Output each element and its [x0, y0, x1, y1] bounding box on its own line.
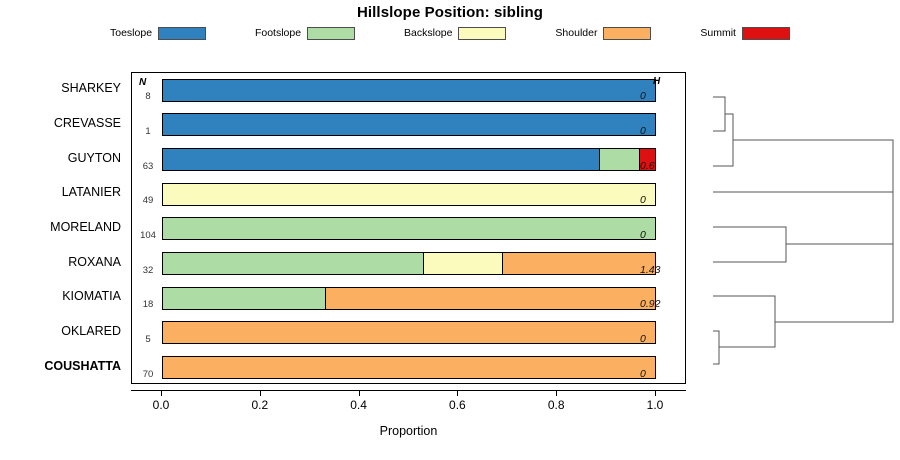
category-label-column: SHARKEYCREVASSEGUYTONLATANIERMORELANDROX… [0, 72, 127, 384]
n-value: 49 [135, 195, 161, 206]
bar-segment-footslope[interactable] [163, 218, 655, 239]
n-value: 8 [135, 91, 161, 102]
category-label-latanier: LATANIER [62, 185, 121, 199]
bar-segment-footslope[interactable] [163, 288, 325, 309]
bar-segment-backslope[interactable] [163, 184, 655, 205]
h-column-header: H [653, 76, 660, 87]
legend-label: Shoulder [555, 27, 597, 39]
legend-swatch [742, 27, 790, 40]
x-tick [556, 390, 557, 396]
x-tick-label: 1.0 [647, 398, 664, 412]
n-value: 5 [135, 334, 161, 345]
entropy-column: H000.6001.430.9200 [640, 72, 686, 384]
category-label-roxana: ROXANA [68, 255, 121, 269]
chart-row: 70 [132, 350, 685, 385]
bar-segment-shoulder[interactable] [163, 322, 655, 343]
x-tick [457, 390, 458, 396]
x-axis-line [131, 390, 686, 391]
category-label-guyton: GUYTON [68, 151, 121, 165]
legend-item-footslope: Footslope [255, 27, 355, 40]
chart-title: Hillslope Position: sibling [0, 4, 900, 21]
legend-swatch [603, 27, 651, 40]
category-label-coushatta: COUSHATTA [44, 359, 121, 373]
h-value: 0.6 [640, 160, 684, 172]
stacked-bar[interactable] [162, 356, 656, 379]
dendrogram-svg [686, 72, 900, 384]
legend-item-shoulder: Shoulder [555, 27, 651, 40]
stacked-bar[interactable] [162, 252, 656, 275]
x-tick [260, 390, 261, 396]
legend-item-toeslope: Toeslope [110, 27, 206, 40]
x-axis-title: Proportion [131, 424, 686, 438]
bar-segment-toeslope[interactable] [163, 114, 655, 135]
stacked-bar[interactable] [162, 287, 656, 310]
category-label-kiomatia: KIOMATIA [62, 289, 121, 303]
chart-row: 49 [132, 177, 685, 212]
chart-legend: ToeslopeFootslopeBackslopeShoulderSummit [0, 24, 900, 42]
dendrogram [686, 72, 900, 384]
stacked-bar[interactable] [162, 79, 656, 102]
x-tick-label: 0.4 [350, 398, 367, 412]
h-value: 0 [640, 125, 684, 137]
n-value: 104 [135, 230, 161, 241]
stacked-bar[interactable] [162, 148, 656, 171]
legend-swatch [158, 27, 206, 40]
chart-row: 18 [132, 281, 685, 316]
dendro-link-uppercluster [713, 140, 893, 192]
x-tick-label: 0.0 [153, 398, 170, 412]
legend-label: Summit [700, 27, 736, 39]
legend-swatch [458, 27, 506, 40]
chart-row: 8 [132, 73, 685, 108]
h-value: 0 [640, 194, 684, 206]
chart-row: 63 [132, 142, 685, 177]
stacked-bar[interactable] [162, 183, 656, 206]
chart-row: 32 [132, 246, 685, 281]
legend-item-summit: Summit [700, 27, 790, 40]
x-tick-label: 0.2 [251, 398, 268, 412]
category-label-oklared: OKLARED [61, 324, 121, 338]
category-label-sharkey: SHARKEY [61, 81, 121, 95]
chart-row: 1 [132, 108, 685, 143]
dendro-link-oklared-coushatta [713, 331, 719, 364]
category-label-moreland: MORELAND [50, 220, 121, 234]
stacked-bar[interactable] [162, 217, 656, 240]
legend-label: Backslope [404, 27, 452, 39]
dendro-link-lowercluster [775, 244, 893, 322]
x-tick [655, 390, 656, 396]
bar-segment-shoulder[interactable] [163, 357, 655, 378]
n-value: 32 [135, 265, 161, 276]
x-tick [359, 390, 360, 396]
n-value: 63 [135, 161, 161, 172]
bar-segment-backslope[interactable] [423, 253, 502, 274]
legend-item-backslope: Backslope [404, 27, 506, 40]
bar-segment-footslope[interactable] [599, 149, 639, 170]
x-tick-label: 0.6 [449, 398, 466, 412]
x-axis: 0.00.20.40.60.81.0 [131, 390, 686, 404]
legend-swatch [307, 27, 355, 40]
chart-canvas: Hillslope Position: sibling ToeslopeFoot… [0, 0, 900, 460]
dendro-link-kiomatia-oklaredcoushatta [713, 296, 775, 347]
legend-label: Footslope [255, 27, 301, 39]
n-value: 70 [135, 369, 161, 380]
bar-segment-shoulder[interactable] [502, 253, 655, 274]
x-tick-label: 0.8 [548, 398, 565, 412]
plot-panel: N8163491043218570 [131, 72, 686, 384]
stacked-bar[interactable] [162, 321, 656, 344]
n-value: 18 [135, 299, 161, 310]
bar-segment-toeslope[interactable] [163, 149, 599, 170]
h-value: 1.43 [640, 264, 684, 276]
chart-row: 5 [132, 316, 685, 351]
dendro-link-moreland-roxana [713, 227, 786, 262]
h-value: 0 [640, 333, 684, 345]
legend-label: Toeslope [110, 27, 152, 39]
category-label-crevasse: CREVASSE [54, 116, 121, 130]
n-value: 1 [135, 126, 161, 137]
dendro-link-sharkey-crevasse [713, 97, 725, 131]
dendro-link-sharkeycrevasse-guyton [713, 114, 733, 166]
bar-segment-toeslope[interactable] [163, 80, 655, 101]
h-value: 0 [640, 229, 684, 241]
chart-row: 104 [132, 212, 685, 247]
bar-segment-shoulder[interactable] [325, 288, 655, 309]
h-value: 0.92 [640, 298, 684, 310]
stacked-bar[interactable] [162, 113, 656, 136]
h-value: 0 [640, 368, 684, 380]
bar-segment-footslope[interactable] [163, 253, 423, 274]
x-tick [161, 390, 162, 396]
h-value: 0 [640, 90, 684, 102]
